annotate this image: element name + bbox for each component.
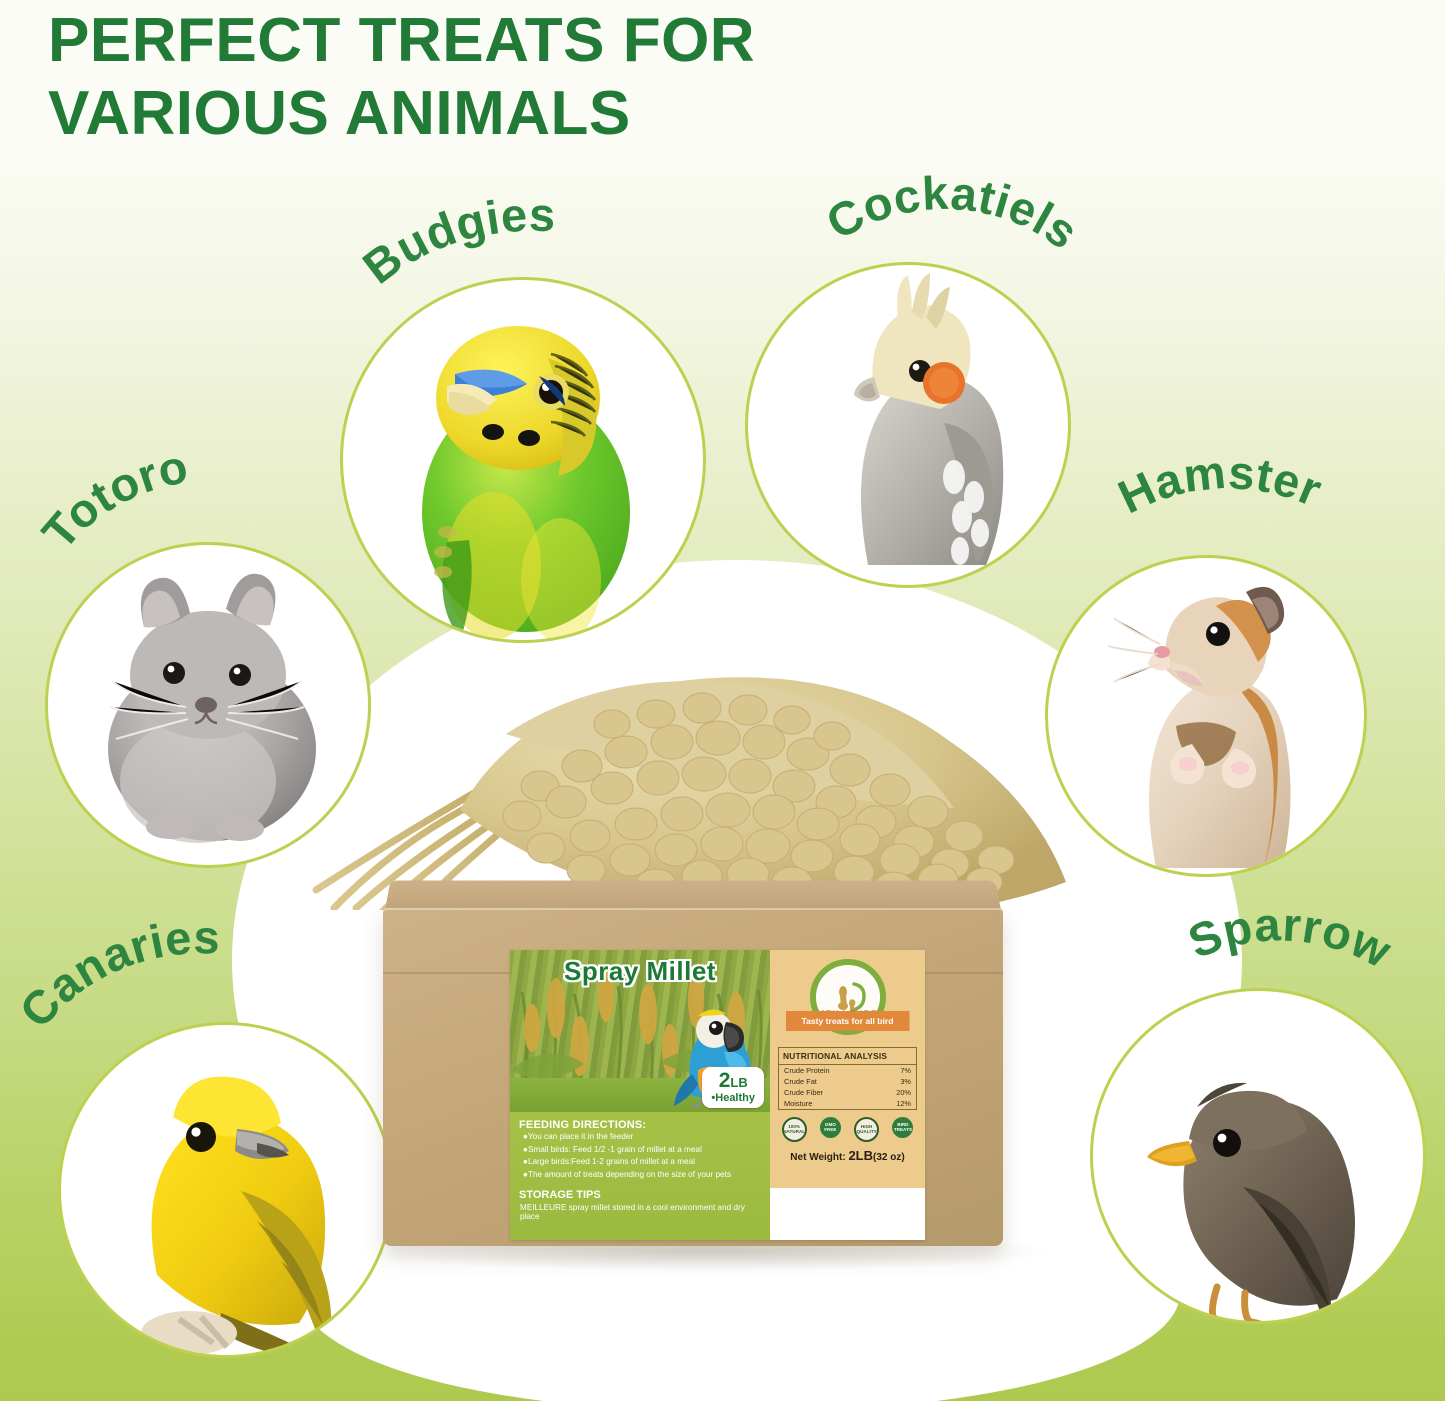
- net-weight: Net Weight: 2LB(32 oz): [770, 1148, 925, 1163]
- label-text-canaries: Canaries: [9, 910, 221, 1037]
- hamster-photo: [1048, 558, 1364, 874]
- box-front-face: Spray Millet: [383, 908, 1003, 1246]
- product-box: Spray Millet: [383, 878, 1003, 1248]
- nutrition-row: Moisture 12%: [779, 1098, 916, 1109]
- label-text-hamster: Hamster: [1110, 445, 1330, 524]
- nutrient-name: Crude Protein: [784, 1066, 830, 1075]
- brand-seal: MEILLEURE Tasty treats for all bird: [796, 959, 900, 1039]
- storage-text: MEILLEURE spray millet stored in a cool …: [520, 1203, 761, 1221]
- nutrition-table: NUTRITIONAL ANALYSIS Crude Protein 7% Cr…: [778, 1047, 917, 1110]
- certification-badge-bird-treats: BIRDTREATS: [892, 1117, 913, 1138]
- animal-bubble-cockatiel: [745, 262, 1071, 588]
- certification-badges: 100%NATURAL GMOFREE HIGHQUALITY BIRDTREA…: [775, 1117, 920, 1142]
- net-weight-label: Net Weight:: [790, 1152, 845, 1163]
- weight-unit: LB: [730, 1075, 747, 1090]
- animal-bubble-hamster: [1045, 555, 1367, 877]
- headline-line-2: VARIOUS ANIMALS: [48, 77, 1148, 150]
- millet-graphic: [300, 660, 1080, 910]
- badge-line-2: QUALITY: [857, 1129, 877, 1134]
- feeding-directions-panel: FEEDING DIRECTIONS: ●You can place it in…: [510, 1112, 770, 1240]
- page-title: PERFECT TREATS FOR VARIOUS ANIMALS: [48, 4, 1148, 150]
- weight-badge: 2LB •Healthy: [702, 1067, 764, 1108]
- nutrient-value: 20%: [896, 1088, 911, 1097]
- svg-text:Cockatiels: Cockatiels: [818, 166, 1089, 259]
- certification-badge-gmo-free: GMOFREE: [820, 1117, 841, 1138]
- budgie-photo: [343, 280, 703, 640]
- badge-line-2: NATURAL: [783, 1129, 805, 1134]
- badge-line-2: FREE: [824, 1127, 836, 1132]
- sparrow-photo: [1093, 991, 1423, 1321]
- brand-tagline: Tasty treats for all bird: [786, 1011, 910, 1031]
- svg-text:Canaries: Canaries: [9, 910, 221, 1037]
- nutrient-value: 12%: [896, 1099, 911, 1108]
- storage-heading: STORAGE TIPS: [519, 1189, 761, 1201]
- feeding-item: ●Large birds:Feed 1-2 grains of millet a…: [523, 1156, 761, 1169]
- certification-badge-quality: HIGHQUALITY: [854, 1117, 879, 1142]
- nutrient-name: Crude Fiber: [784, 1088, 823, 1097]
- millet-field-photo: Spray Millet: [510, 950, 770, 1112]
- nutrition-title: NUTRITIONAL ANALYSIS: [779, 1048, 916, 1065]
- weight-tagline: •Healthy: [711, 1093, 755, 1104]
- svg-text:Totoro: Totoro: [32, 439, 193, 559]
- label-text-totoro: Totoro: [32, 439, 193, 559]
- nutrient-value: 3%: [900, 1077, 911, 1086]
- feeding-heading: FEEDING DIRECTIONS:: [519, 1119, 761, 1131]
- infographic-canvas: PERFECT TREATS FOR VARIOUS ANIMALS: [0, 0, 1445, 1401]
- canary-photo: [61, 1025, 391, 1355]
- weight-amount: 2: [719, 1069, 731, 1092]
- product-label: Spray Millet: [510, 950, 925, 1240]
- millet-sprays: [300, 660, 1080, 910]
- nutrition-row: Crude Protein 7%: [779, 1065, 916, 1076]
- product-title: Spray Millet: [510, 956, 770, 987]
- nutrition-row: Crude Fat 3%: [779, 1076, 916, 1087]
- animal-bubble-canary: [58, 1022, 394, 1358]
- label-left-column: Spray Millet: [510, 950, 770, 1240]
- label-right-column: MEILLEURE Tasty treats for all bird NUTR…: [770, 950, 925, 1240]
- feeding-item: ●Small birds: Feed 1/2 -1 grain of mille…: [523, 1144, 761, 1157]
- svg-text:Hamster: Hamster: [1110, 445, 1330, 524]
- nutrition-row: Crude Fiber 20%: [779, 1087, 916, 1098]
- nutrient-name: Moisture: [784, 1099, 812, 1108]
- animal-bubble-sparrow: [1090, 988, 1426, 1324]
- certification-badge-natural: 100%NATURAL: [782, 1117, 807, 1142]
- label-white-strip: [770, 1188, 925, 1240]
- nutrient-value: 7%: [900, 1066, 911, 1075]
- net-weight-value: 2LB: [848, 1148, 873, 1163]
- net-weight-alt: (32 oz): [873, 1152, 905, 1163]
- nutrient-name: Crude Fat: [784, 1077, 817, 1086]
- label-text-cockatiels: Cockatiels: [818, 166, 1089, 259]
- badge-line-2: TREATS: [894, 1127, 912, 1132]
- animal-label-hamster: Hamster: [1110, 448, 1430, 568]
- headline-line-1: PERFECT TREATS FOR: [48, 4, 1148, 77]
- feeding-item: ●The amount of treats depending on the s…: [523, 1169, 761, 1182]
- feeding-item: ●You can place it in the feeder: [523, 1131, 761, 1144]
- animal-bubble-budgie: [340, 277, 706, 643]
- cockatiel-photo: [748, 265, 1068, 585]
